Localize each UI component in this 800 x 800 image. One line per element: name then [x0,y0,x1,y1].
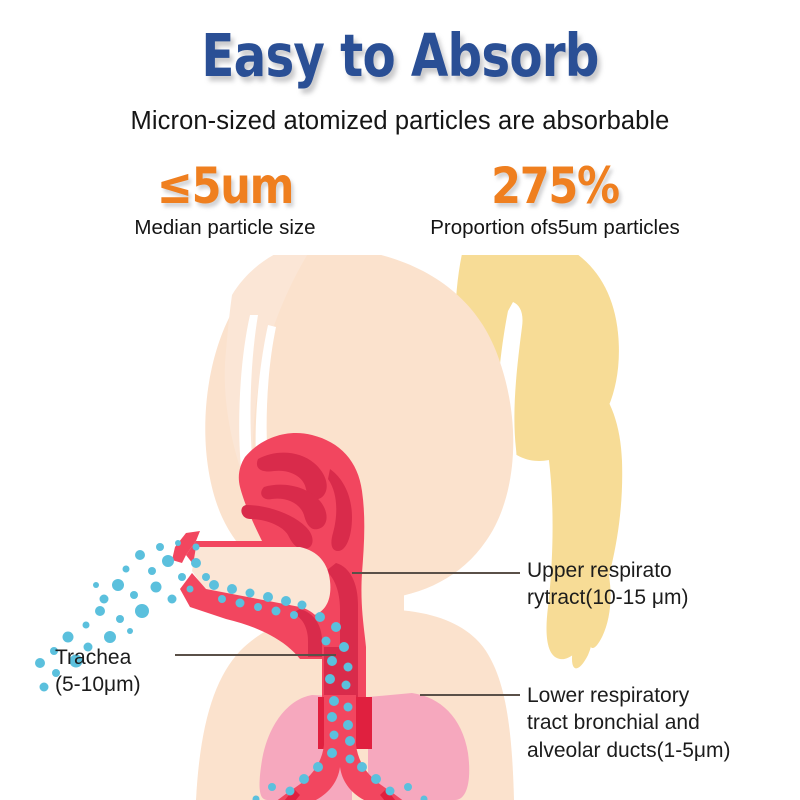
callout-line: Trachea [55,644,141,671]
callout-line: alveolar ducts(1-5μm) [527,737,731,764]
infographic-page: Easy to Absorb Micron-sized atomized par… [0,0,800,800]
stat-value: 275% [409,160,701,212]
callout-lower-respiratory-tract: Lower respiratory tract bronchial and al… [527,682,731,764]
callout-line: tract bronchial and [527,709,731,736]
stat-median-particle-size: ≤5um Median particle size [60,160,390,240]
callout-line: rytract(10-15 μm) [527,584,688,611]
stat-value: ≤5um [83,160,367,212]
callout-upper-respiratory-tract: Upper respirato rytract(10-15 μm) [527,557,688,612]
stat-proportion-particles: 275% Proportion ofs5um particles [385,160,725,240]
page-subtitle: Micron-sized atomized particles are abso… [0,107,800,136]
page-title: Easy to Absorb [72,26,728,85]
callout-line: Upper respirato [527,557,688,584]
stats-row: ≤5um Median particle size 275% Proportio… [0,160,800,260]
callout-trachea: Trachea (5-10μm) [55,644,141,699]
stat-label: Proportion ofs5um particles [385,216,725,240]
stat-label: Median particle size [60,216,390,240]
callout-line: (5-10μm) [55,671,141,698]
callout-line: Lower respiratory [527,682,731,709]
